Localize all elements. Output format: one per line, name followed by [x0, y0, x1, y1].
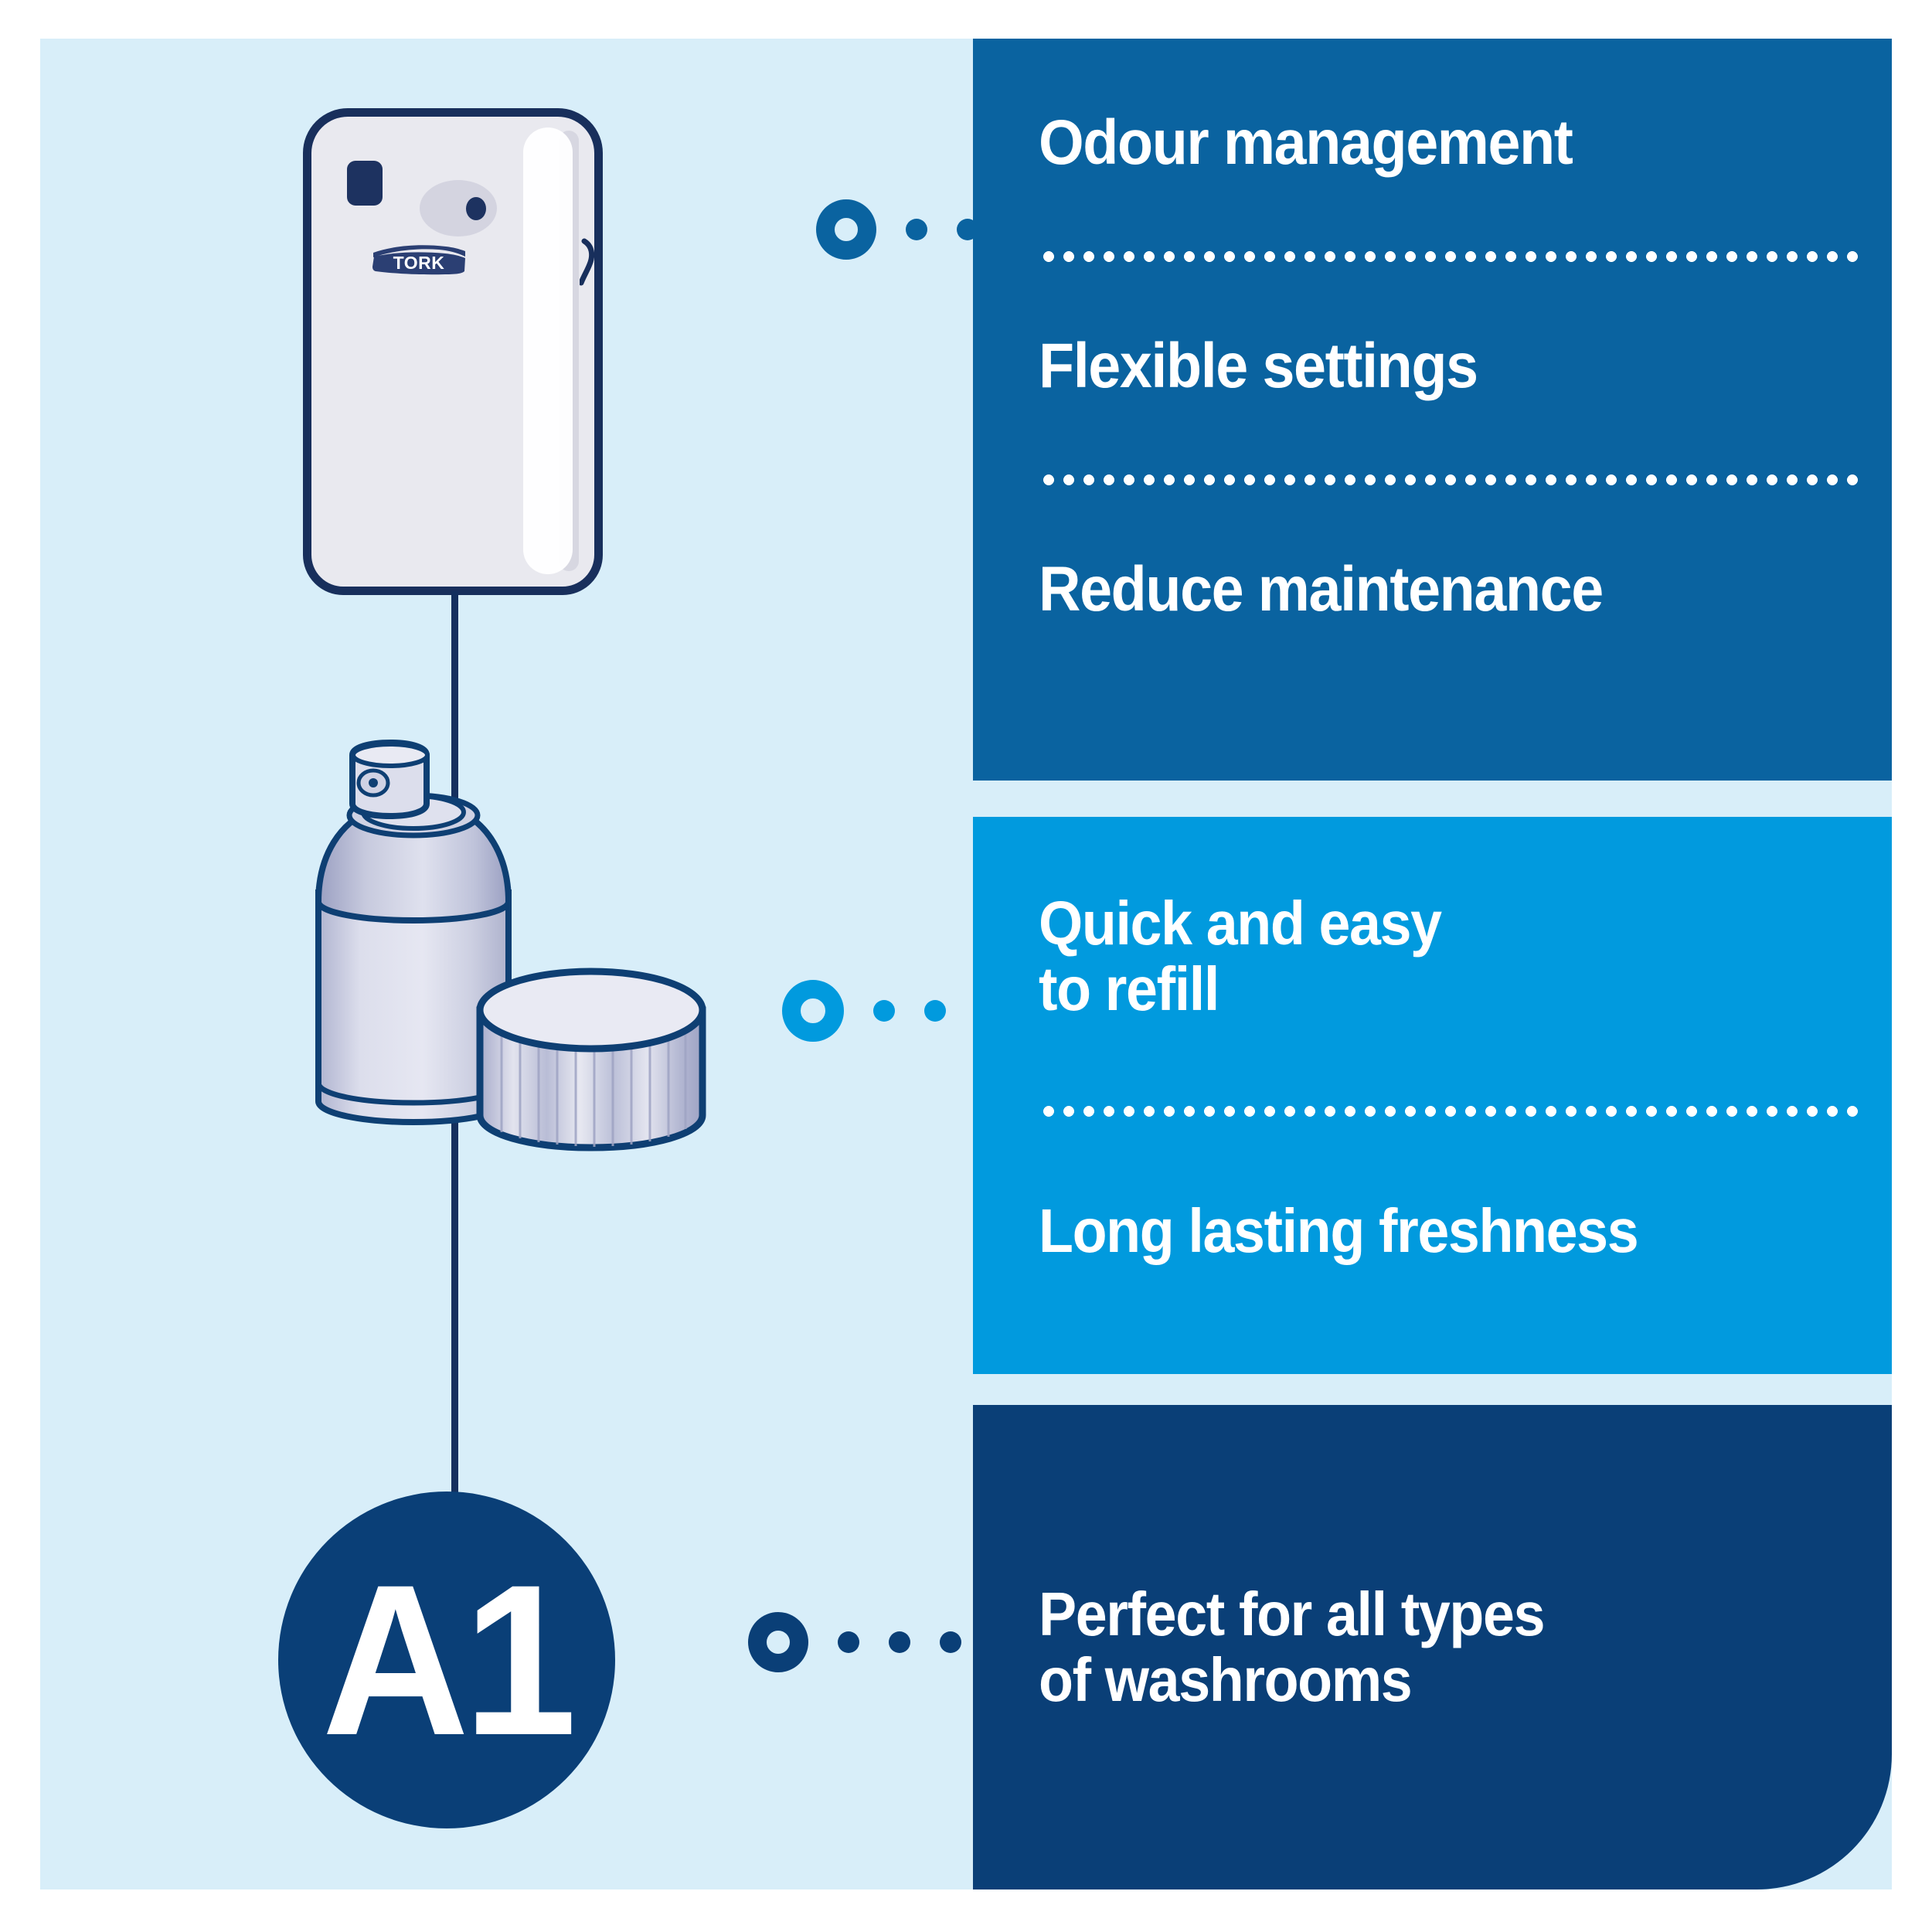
feature-text-long-lasting-freshness: Long lasting freshness [1039, 1199, 1795, 1264]
feature-text-flexible-settings: Flexible settings [1039, 333, 1795, 400]
dotted-divider [1039, 1106, 1861, 1117]
svg-text:TORK: TORK [393, 253, 445, 273]
connector-dot [889, 1631, 910, 1653]
dispenser-illustration: TORK [303, 108, 603, 595]
refill-can-cap-illustration [468, 962, 715, 1163]
a1-badge-label: A1 [322, 1553, 571, 1767]
connector-ring-icon [816, 199, 876, 260]
spacer [1039, 1117, 1861, 1199]
feature-text-perfect-for-all-types-of-washrooms: Perfect for all types of washrooms [1039, 1582, 1795, 1713]
feature-panel-odour: Odour management Flexible settings Reduc… [973, 39, 1892, 781]
connector-line-bottom [451, 1246, 458, 1501]
a1-system-badge: A1 [278, 1492, 615, 1828]
connector-dot [940, 1631, 961, 1653]
feature-text-quick-and-easy-to-refill: Quick and easy to refill [1039, 891, 1795, 1022]
spacer [1039, 262, 1861, 333]
connector-ring-icon [782, 980, 844, 1042]
spacer [1039, 1022, 1861, 1106]
dispenser-highlight [523, 128, 573, 574]
dispenser-sensor-dot-icon [466, 197, 486, 220]
connector-odour [816, 199, 978, 260]
connector-ring-icon [748, 1612, 808, 1672]
connector-dot [924, 1000, 946, 1022]
connector-refill [782, 980, 997, 1042]
connector-line-top [451, 591, 458, 757]
feature-text-reduce-maintenance: Reduce maintenance [1039, 556, 1795, 624]
feature-panel-refill: Quick and easy to refill Long lasting fr… [973, 817, 1892, 1374]
tork-logo: TORK [371, 242, 468, 276]
feature-panel-washrooms: Perfect for all types of washrooms [973, 1405, 1892, 1889]
spacer [1039, 177, 1861, 251]
connector-dot [906, 219, 927, 240]
spacer [1039, 485, 1861, 556]
spacer [1039, 400, 1861, 474]
connector-dot [873, 1000, 895, 1022]
connector-dot-trail [876, 219, 978, 240]
dotted-divider [1039, 474, 1861, 485]
dispenser-led-indicator-icon [347, 161, 383, 206]
dotted-divider [1039, 251, 1861, 262]
feature-text-odour-management: Odour management [1039, 110, 1795, 177]
dispenser-body: TORK [303, 108, 603, 595]
connector-dot [838, 1631, 859, 1653]
dispenser-side-notch-icon [580, 238, 606, 286]
